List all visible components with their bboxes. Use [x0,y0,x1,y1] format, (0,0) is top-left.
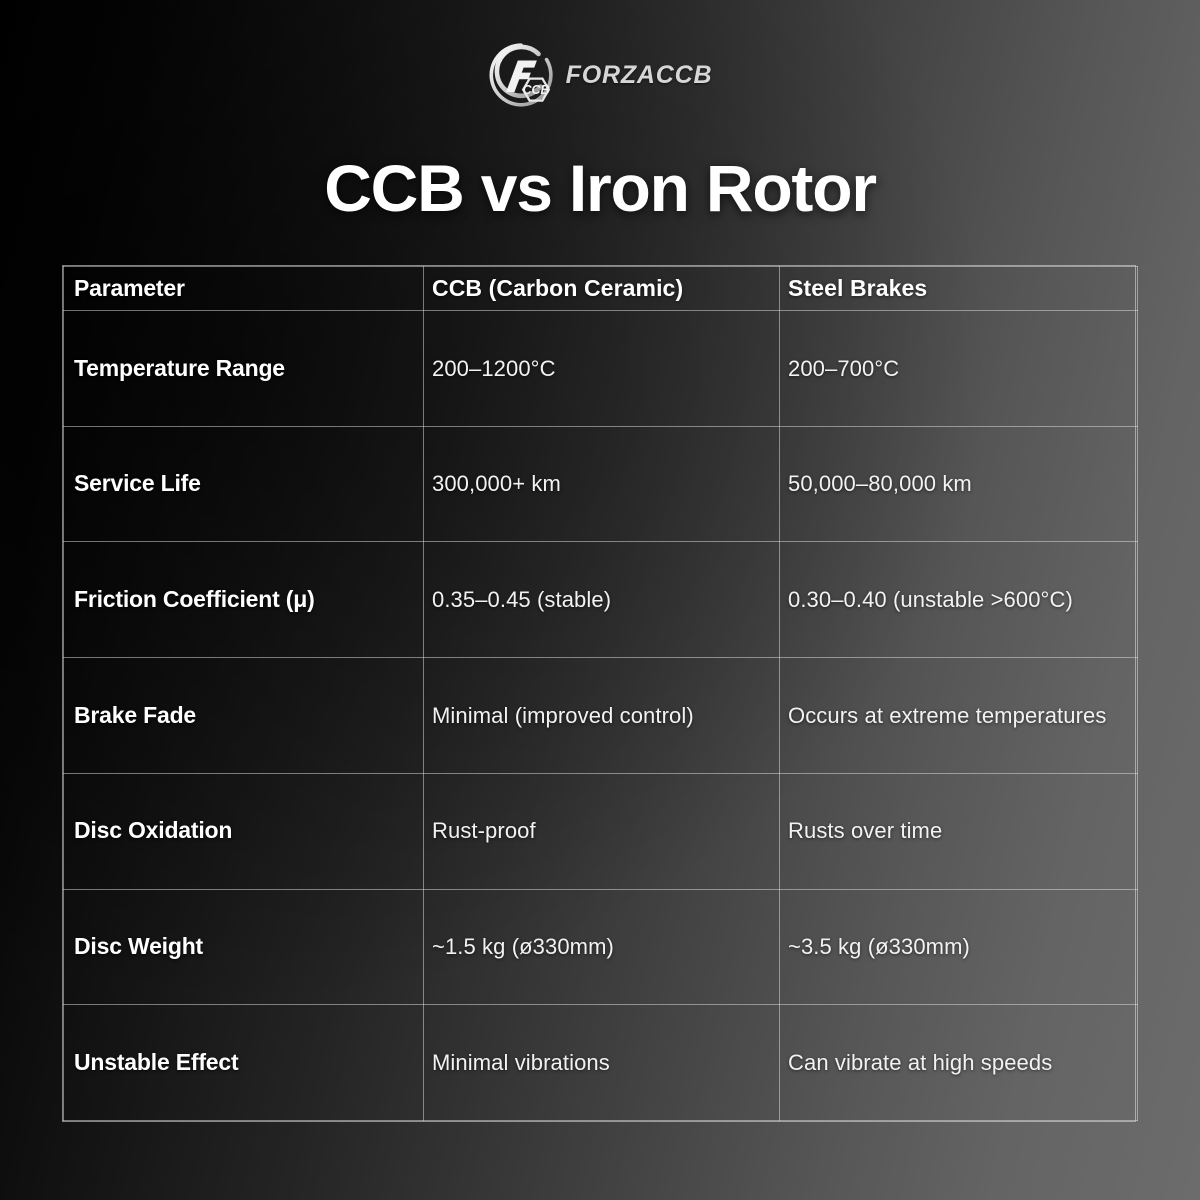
row-ccb-value: Rust-proof [424,773,780,889]
row-steel-value: 0.30–0.40 (unstable >600°C) [780,542,1138,658]
row-parameter-label: Friction Coefficient (μ) [64,542,424,658]
brand-wordmark: FORZACCB [566,61,713,90]
row-steel-value: 200–700°C [780,311,1138,427]
row-ccb-value: 0.35–0.45 (stable) [424,542,780,658]
table-row: Temperature Range 200–1200°C 200–700°C [64,311,1138,427]
row-steel-value: Rusts over time [780,773,1138,889]
row-steel-value: Occurs at extreme temperatures [780,658,1138,774]
table-row: Friction Coefficient (μ) 0.35–0.45 (stab… [64,542,1138,658]
comparison-table: Parameter CCB (Carbon Ceramic) Steel Bra… [63,266,1138,1121]
row-steel-value: Can vibrate at high speeds [780,1005,1138,1121]
svg-text:CCB: CCB [522,83,549,97]
column-header-parameter: Parameter [64,267,424,311]
infographic-page: CCB FORZACCB CCB vs Iron Rotor Parameter… [0,0,1200,1200]
row-steel-value: ~3.5 kg (ø330mm) [780,889,1138,1005]
row-steel-value: 50,000–80,000 km [780,426,1138,542]
brand-lockup: CCB FORZACCB [0,42,1200,108]
forzaccb-f-circle-logo-icon: CCB [488,42,554,108]
row-parameter-label: Disc Weight [64,889,424,1005]
page-title: CCB vs Iron Rotor [0,150,1200,226]
row-parameter-label: Brake Fade [64,658,424,774]
table-row: Disc Weight ~1.5 kg (ø330mm) ~3.5 kg (ø3… [64,889,1138,1005]
table-row: Disc Oxidation Rust-proof Rusts over tim… [64,773,1138,889]
row-parameter-label: Disc Oxidation [64,773,424,889]
table-row: Service Life 300,000+ km 50,000–80,000 k… [64,426,1138,542]
comparison-table-container: Parameter CCB (Carbon Ceramic) Steel Bra… [62,265,1136,1122]
row-ccb-value: Minimal vibrations [424,1005,780,1121]
row-parameter-label: Service Life [64,426,424,542]
row-parameter-label: Unstable Effect [64,1005,424,1121]
table-row: Brake Fade Minimal (improved control) Oc… [64,658,1138,774]
row-ccb-value: 200–1200°C [424,311,780,427]
row-ccb-value: 300,000+ km [424,426,780,542]
table-header-row: Parameter CCB (Carbon Ceramic) Steel Bra… [64,267,1138,311]
row-parameter-label: Temperature Range [64,311,424,427]
row-ccb-value: Minimal (improved control) [424,658,780,774]
row-ccb-value: ~1.5 kg (ø330mm) [424,889,780,1005]
column-header-ccb: CCB (Carbon Ceramic) [424,267,780,311]
table-row: Unstable Effect Minimal vibrations Can v… [64,1005,1138,1121]
column-header-steel: Steel Brakes [780,267,1138,311]
